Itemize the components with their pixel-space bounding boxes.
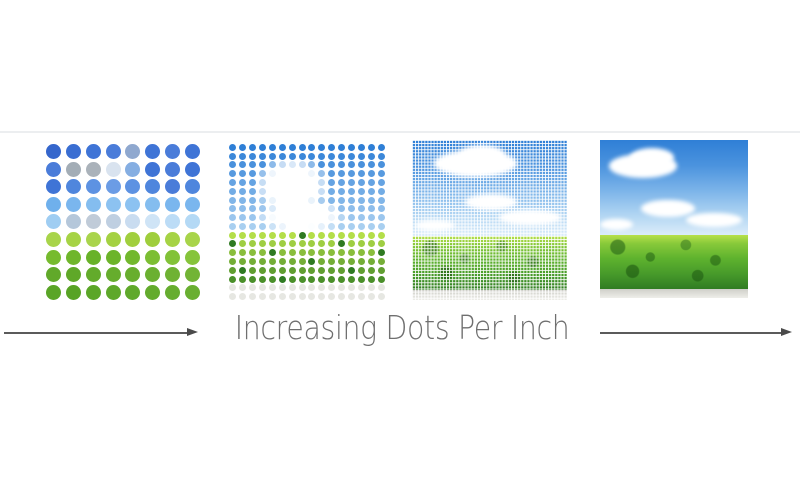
halftone-dot [229, 240, 236, 247]
halftone-dot [249, 240, 256, 247]
halftone-dot [269, 276, 276, 283]
halftone-dot [279, 214, 286, 221]
halftone-dot [299, 293, 306, 300]
halftone-dot [279, 258, 286, 265]
halftone-dot [229, 249, 236, 256]
halftone-dot [338, 205, 345, 212]
halftone-dot [269, 267, 276, 274]
cloud-shape [686, 213, 742, 227]
halftone-dot [125, 250, 140, 265]
halftone-dot [348, 258, 355, 265]
halftone-dot [338, 214, 345, 221]
halftone-dot [378, 240, 385, 247]
halftone-dot [125, 144, 140, 159]
halftone-dot [299, 240, 306, 247]
halftone-dot [229, 179, 236, 186]
halftone-dot [358, 179, 365, 186]
halftone-dot [106, 214, 121, 229]
halftone-dot [125, 214, 140, 229]
halftone-dot [86, 214, 101, 229]
halftone-dot [318, 214, 325, 221]
halftone-dot [145, 285, 160, 300]
halftone-dot [358, 161, 365, 168]
halftone-dot [289, 223, 296, 230]
halftone-dot [279, 153, 286, 160]
halftone-dot [279, 240, 286, 247]
halftone-dot [239, 144, 246, 151]
halftone-dot [348, 267, 355, 274]
halftone-dot [249, 276, 256, 283]
halftone-dot [229, 161, 236, 168]
halftone-dot [239, 197, 246, 204]
halftone-dot [368, 179, 375, 186]
halftone-dot [239, 276, 246, 283]
halftone-dot [249, 249, 256, 256]
halftone-dot [378, 284, 385, 291]
halftone-dot [378, 170, 385, 177]
halftone-dot [308, 205, 315, 212]
halftone-dot [368, 144, 375, 151]
halftone-dot [249, 153, 256, 160]
halftone-dot [308, 284, 315, 291]
halftone-dot [328, 197, 335, 204]
halftone-dot [299, 179, 306, 186]
cloud-shape [630, 148, 674, 167]
halftone-dot [318, 240, 325, 247]
halftone-dot [328, 188, 335, 195]
halftone-dot [259, 293, 266, 300]
halftone-dot [86, 144, 101, 159]
halftone-dot [239, 170, 246, 177]
halftone-dot [269, 144, 276, 151]
halftone-dot [259, 153, 266, 160]
halftone-dot [308, 249, 315, 256]
halftone-dot [299, 188, 306, 195]
halftone-photo [412, 140, 567, 300]
halftone-dot [125, 197, 140, 212]
halftone-dot [338, 161, 345, 168]
halftone-dot [259, 197, 266, 204]
halftone-dot [338, 197, 345, 204]
halftone-dot [229, 267, 236, 274]
halftone-dot [299, 205, 306, 212]
halftone-dot [308, 223, 315, 230]
halftone-dot [145, 267, 160, 282]
halftone-dot [46, 179, 61, 194]
halftone-dot [368, 197, 375, 204]
halftone-dot [318, 205, 325, 212]
halftone-dot [289, 258, 296, 265]
halftone-dot [145, 197, 160, 212]
halftone-dot [279, 205, 286, 212]
halftone-dot [249, 223, 256, 230]
halftone-dot [46, 267, 61, 282]
halftone-dot [249, 188, 256, 195]
halftone-dot [86, 197, 101, 212]
halftone-dot [229, 284, 236, 291]
halftone-dot [328, 249, 335, 256]
halftone-dot [46, 197, 61, 212]
halftone-dot [259, 249, 266, 256]
halftone-dot [318, 188, 325, 195]
halftone-dot [145, 179, 160, 194]
halftone-dot [338, 258, 345, 265]
halftone-dot [229, 214, 236, 221]
halftone-dot [299, 276, 306, 283]
halftone-dot [229, 153, 236, 160]
halftone-dot [185, 214, 200, 229]
arrow-shaft [4, 332, 188, 334]
halftone-dot [279, 276, 286, 283]
halftone-dot [358, 284, 365, 291]
halftone-dot [106, 285, 121, 300]
halftone-dot [259, 170, 266, 177]
halftone-dot [338, 144, 345, 151]
halftone-dot [299, 170, 306, 177]
halftone-dot [378, 214, 385, 221]
halftone-dot [328, 284, 335, 291]
halftone-dot [269, 258, 276, 265]
halftone-dot [66, 214, 81, 229]
halftone-dot [289, 240, 296, 247]
halftone-dot [185, 285, 200, 300]
caption-row: Increasing Dots Per Inch [0, 306, 800, 354]
halftone-dot [66, 267, 81, 282]
halftone-dot [46, 144, 61, 159]
halftone-dot [259, 205, 266, 212]
halftone-dot [239, 179, 246, 186]
halftone-dot [328, 170, 335, 177]
halftone-dot [289, 276, 296, 283]
halftone-dot [279, 161, 286, 168]
halftone-dot [299, 232, 306, 239]
halftone-dot [289, 153, 296, 160]
halftone-dot [259, 223, 266, 230]
halftone-dot [259, 284, 266, 291]
halftone-dot [269, 179, 276, 186]
halftone-dot [328, 214, 335, 221]
halftone-dot [289, 232, 296, 239]
figure-canvas: Increasing Dots Per Inch [0, 0, 800, 500]
halftone-dot [368, 188, 375, 195]
halftone-dot [378, 232, 385, 239]
halftone-dot [348, 188, 355, 195]
halftone-dot [185, 162, 200, 177]
halftone-dot [106, 267, 121, 282]
halftone-dot [318, 153, 325, 160]
halftone-dot [368, 170, 375, 177]
halftone-dot [86, 162, 101, 177]
halftone-dot [348, 214, 355, 221]
halftone-dot [66, 197, 81, 212]
halftone-dot [125, 162, 140, 177]
halftone-dot [328, 153, 335, 160]
halftone-dot [106, 232, 121, 247]
halftone-dot [259, 161, 266, 168]
halftone-dot [269, 205, 276, 212]
halftone-dot [239, 153, 246, 160]
halftone-dot [239, 223, 246, 230]
halftone-dot [86, 232, 101, 247]
halftone-dot [249, 267, 256, 274]
halftone-dot [348, 144, 355, 151]
halftone-dot [249, 205, 256, 212]
halftone-dot [145, 214, 160, 229]
halftone-dot [229, 232, 236, 239]
halftone-dot [338, 240, 345, 247]
halftone-dot [318, 249, 325, 256]
halftone-dot [318, 170, 325, 177]
halftone-dot [338, 284, 345, 291]
halftone-dot [358, 197, 365, 204]
halftone-dot [279, 170, 286, 177]
halftone-dot [249, 232, 256, 239]
halftone-dot [308, 153, 315, 160]
halftone-dot [338, 179, 345, 186]
halftone-dot [259, 144, 266, 151]
halftone-dot [308, 214, 315, 221]
halftone-dot [185, 197, 200, 212]
halftone-dot [299, 214, 306, 221]
halftone-dot [378, 249, 385, 256]
full-resolution-photo-panel [600, 140, 748, 298]
halftone-dot [378, 161, 385, 168]
halftone-dot [338, 249, 345, 256]
halftone-dot [269, 188, 276, 195]
halftone-dot [239, 267, 246, 274]
halftone-dot [165, 179, 180, 194]
halftone-dot [348, 170, 355, 177]
halftone-dot [229, 276, 236, 283]
halftone-dot [279, 232, 286, 239]
halftone-dot [106, 144, 121, 159]
halftone-dot [279, 293, 286, 300]
halftone-dot [348, 153, 355, 160]
top-divider [0, 131, 800, 133]
halftone-dot [318, 232, 325, 239]
full-resolution-photo [600, 140, 748, 298]
halftone-dot [358, 240, 365, 247]
halftone-dot [358, 144, 365, 151]
halftone-dot [368, 240, 375, 247]
halftone-dot [269, 153, 276, 160]
halftone-dot [368, 267, 375, 274]
halftone-dot [299, 284, 306, 291]
arrow-head-icon [781, 328, 792, 336]
halftone-dot [249, 197, 256, 204]
halftone-dot [299, 197, 306, 204]
halftone-dot [239, 214, 246, 221]
halftone-dot [299, 144, 306, 151]
halftone-dot [308, 179, 315, 186]
halftone-dot [308, 267, 315, 274]
halftone-dot [46, 250, 61, 265]
halftone-dot [259, 232, 266, 239]
halftone-dot [86, 179, 101, 194]
halftone-dot [348, 276, 355, 283]
halftone-dot [229, 197, 236, 204]
halftone-dot [358, 153, 365, 160]
halftone-dot [318, 197, 325, 204]
halftone-dot [279, 223, 286, 230]
halftone-dot [125, 267, 140, 282]
halftone-dot [318, 258, 325, 265]
halftone-dot [308, 232, 315, 239]
halftone-dot [269, 214, 276, 221]
halftone-dot [308, 161, 315, 168]
halftone-dot [308, 188, 315, 195]
halftone-dot [259, 276, 266, 283]
halftone-dot [125, 285, 140, 300]
halftone-dot [358, 276, 365, 283]
halftone-dot [368, 205, 375, 212]
halftone-dot [239, 284, 246, 291]
fine-dot-screen-overlay [412, 140, 567, 300]
halftone-dot [378, 276, 385, 283]
halftone-dot [125, 232, 140, 247]
halftone-dot [106, 250, 121, 265]
halftone-dot [308, 240, 315, 247]
halftone-dot [86, 250, 101, 265]
halftone-dot [229, 188, 236, 195]
halftone-dot [358, 188, 365, 195]
halftone-dot [269, 197, 276, 204]
halftone-dot [185, 250, 200, 265]
halftone-dot [66, 179, 81, 194]
halftone-dot [348, 205, 355, 212]
halftone-dot [328, 161, 335, 168]
halftone-dot [348, 249, 355, 256]
hedge-region [600, 235, 748, 290]
halftone-dot [239, 249, 246, 256]
halftone-dot [279, 249, 286, 256]
halftone-dot [249, 161, 256, 168]
halftone-dot [308, 293, 315, 300]
halftone-dot [289, 144, 296, 151]
halftone-dot [358, 170, 365, 177]
halftone-dot [338, 232, 345, 239]
halftone-dot [328, 144, 335, 151]
halftone-dot [269, 240, 276, 247]
halftone-dot [318, 267, 325, 274]
halftone-dot [185, 232, 200, 247]
halftone-dot [368, 293, 375, 300]
halftone-dot [348, 293, 355, 300]
halftone-dot [145, 162, 160, 177]
halftone-dot [66, 144, 81, 159]
halftone-dot [368, 284, 375, 291]
halftone-dot [299, 153, 306, 160]
halftone-dot [338, 170, 345, 177]
halftone-dot [358, 267, 365, 274]
halftone-dot [289, 205, 296, 212]
halftone-dot [145, 232, 160, 247]
coarse-halftone-panel [44, 140, 202, 302]
halftone-dot [259, 214, 266, 221]
halftone-dot [249, 258, 256, 265]
halftone-dot [348, 232, 355, 239]
halftone-dot [338, 267, 345, 274]
halftone-dot [259, 267, 266, 274]
medium-dot-grid [228, 143, 386, 301]
halftone-dot [165, 232, 180, 247]
halftone-dot [66, 232, 81, 247]
halftone-dot [279, 188, 286, 195]
halftone-dot [378, 153, 385, 160]
halftone-dot [279, 267, 286, 274]
halftone-dot [269, 161, 276, 168]
halftone-dot [299, 249, 306, 256]
halftone-dot [165, 162, 180, 177]
halftone-dot [378, 197, 385, 204]
halftone-dot [378, 293, 385, 300]
halftone-dot [338, 153, 345, 160]
halftone-dot [165, 197, 180, 212]
halftone-dot [239, 188, 246, 195]
halftone-dot [358, 258, 365, 265]
halftone-dot [299, 223, 306, 230]
halftone-dot [299, 258, 306, 265]
halftone-dot [229, 170, 236, 177]
halftone-dot [269, 223, 276, 230]
increasing-direction-arrow-right [600, 328, 792, 337]
medium-halftone-panel [228, 140, 386, 302]
halftone-dot [368, 249, 375, 256]
halftone-dot [66, 162, 81, 177]
halftone-dot [259, 188, 266, 195]
halftone-dot [279, 144, 286, 151]
halftone-dot [259, 258, 266, 265]
halftone-dot [328, 293, 335, 300]
halftone-dot [106, 197, 121, 212]
halftone-dot [328, 232, 335, 239]
halftone-dot [368, 258, 375, 265]
halftone-dot [368, 214, 375, 221]
halftone-dot [358, 223, 365, 230]
halftone-dot [378, 205, 385, 212]
halftone-dot [279, 179, 286, 186]
halftone-dot [299, 267, 306, 274]
halftone-dot [106, 162, 121, 177]
halftone-dot [358, 293, 365, 300]
halftone-dot [328, 223, 335, 230]
halftone-dot [229, 258, 236, 265]
halftone-dot [46, 162, 61, 177]
halftone-dot [289, 170, 296, 177]
halftone-dot [289, 197, 296, 204]
halftone-dot [229, 293, 236, 300]
halftone-dot [368, 161, 375, 168]
halftone-dot [358, 232, 365, 239]
halftone-dot [328, 179, 335, 186]
halftone-dot [269, 293, 276, 300]
halftone-dot [249, 293, 256, 300]
halftone-dot [239, 232, 246, 239]
halftone-dot [308, 144, 315, 151]
halftone-dot [308, 276, 315, 283]
halftone-dot [239, 293, 246, 300]
halftone-dot [185, 179, 200, 194]
halftone-dot [368, 232, 375, 239]
halftone-dot [106, 179, 121, 194]
halftone-dot [338, 188, 345, 195]
halftone-dot [46, 232, 61, 247]
halftone-dot [46, 214, 61, 229]
halftone-dot [378, 179, 385, 186]
halftone-dot [368, 153, 375, 160]
halftone-dot [86, 285, 101, 300]
halftone-dot [229, 223, 236, 230]
